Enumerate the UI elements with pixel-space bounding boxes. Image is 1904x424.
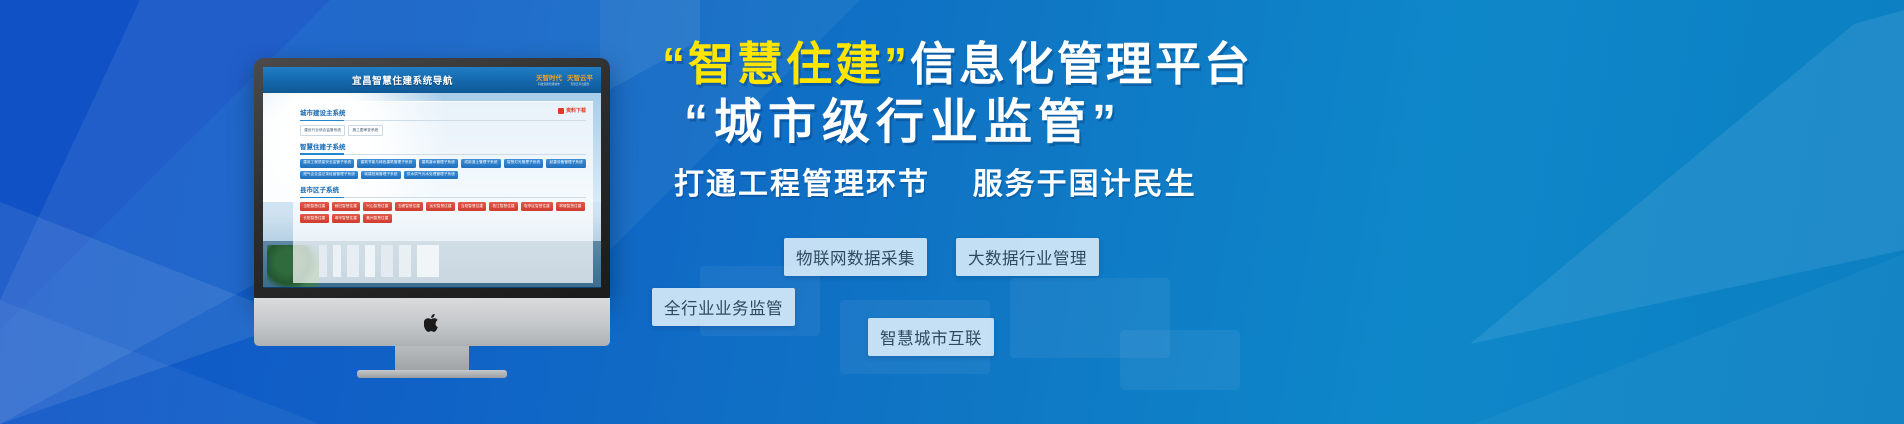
nav-chip[interactable]: 兴山智慧住建 xyxy=(363,202,392,211)
nav-chip[interactable]: 远安智慧住建 xyxy=(426,202,455,211)
banner-copy: “智慧住建”信息化管理平台 “城市级行业监管” 打通工程管理环节 服务于国计民生 xyxy=(648,40,1828,203)
chip-row-main-system: 建设行业综合监管系统 施工图审查系统 xyxy=(300,125,586,136)
site-body: 资料下载 城市建设主系统 建设行业综合监管系统 施工图审查系统 智慧住建子系统 … xyxy=(263,93,601,287)
nav-chip[interactable]: 粤甲智慧住建 xyxy=(332,214,361,223)
nav-chip[interactable]: 成用渣土管理子系统 xyxy=(461,159,501,168)
imac-bezel: 宜昌智慧住建系统导航 天智时代 科技创新智慧城市 天智云平 天智云平台服务 xyxy=(254,58,610,298)
section-title-smart-sub-system: 智慧住建子系统 xyxy=(300,141,586,155)
nav-chip[interactable]: 枝江智慧住建 xyxy=(489,202,518,211)
bg-shape-right-lower xyxy=(1474,254,1904,424)
headline-rest: 信息化管理平台 xyxy=(910,38,1253,90)
nav-chip[interactable]: 寜陵智慧住建 xyxy=(556,202,585,211)
chip-row-smart-sub-system: 建设工程质量安全监管子系统 建筑节能与绿色建筑管理子系统 建筑废水管理子系统 成… xyxy=(300,159,586,180)
nav-chip[interactable]: 建设工程质量安全监管子系统 xyxy=(300,159,354,168)
nav-chip[interactable]: 当阳智慧住建 xyxy=(300,202,329,211)
feature-pill-smart-city[interactable]: 智慧城市互联 xyxy=(868,318,994,356)
nav-chip[interactable]: 城建档案管理子系统 xyxy=(361,171,401,180)
nav-chip[interactable]: 智慧灯光管理子系统 xyxy=(504,159,544,168)
feature-pill-iot-data[interactable]: 物联网数据采集 xyxy=(784,238,927,276)
imac-mockup: 宜昌智慧住建系统导航 天智时代 科技创新智慧城市 天智云平 天智云平台服务 xyxy=(254,58,610,358)
tagline-part-2: 服务于国计民生 xyxy=(973,168,1197,201)
apple-logo-icon xyxy=(424,313,441,333)
headline-quote-close: ” xyxy=(884,38,910,90)
headline-tagline: 打通工程管理环节 服务于国计民生 xyxy=(674,159,1828,203)
feature-pill-group: 物联网数据采集 大数据行业管理 全行业业务监管 智慧城市互联 xyxy=(640,230,1160,360)
nav-chip[interactable]: 长阳智慧住建 xyxy=(300,214,329,223)
site-title: 宜昌智慧住建系统导航 xyxy=(269,73,536,87)
nav-chip[interactable]: 琁亭区智慧住建 xyxy=(521,202,553,211)
nav-chip[interactable]: 建设行业综合监管系统 xyxy=(300,125,345,136)
section-title-county-sub-system: 县市区子系统 xyxy=(300,184,586,198)
nav-chip[interactable]: 施工图审查系统 xyxy=(348,125,382,136)
headline-primary: “智慧住建”信息化管理平台 xyxy=(662,40,1828,89)
nav-chip[interactable]: 燃气企业监记录经营管理子系统 xyxy=(300,171,358,180)
imac-stand xyxy=(395,346,469,372)
feature-pill-bigdata[interactable]: 大数据行业管理 xyxy=(956,238,1099,276)
nav-chip[interactable]: 蕉州智慧住建 xyxy=(363,214,392,223)
nav-chip[interactable]: 当阳智慧住建 xyxy=(458,202,487,211)
headline-secondary: “城市级行业监管” xyxy=(684,97,1828,149)
imac-chin xyxy=(254,298,610,346)
nav-chip[interactable]: 供水供气污水处理管理子系统 xyxy=(404,171,458,180)
chip-row-county-sub-system: 当阳智慧住建 秭归智慧住建 兴山智慧住建 五峰智慧住建 远安智慧住建 当阳智慧住… xyxy=(300,202,586,223)
nav-chip[interactable]: 五峰智慧住建 xyxy=(395,202,424,211)
imac-display: 宜昌智慧住建系统导航 天智时代 科技创新智慧城市 天智云平 天智云平台服务 xyxy=(263,67,601,288)
section-title-main-system: 城市建设主系统 xyxy=(300,107,586,121)
site-header: 宜昌智慧住建系统导航 天智时代 科技创新智慧城市 天智云平 天智云平台服务 xyxy=(263,67,601,93)
nav-chip[interactable]: 秭归智慧住建 xyxy=(332,202,361,211)
headline-highlight: 智慧住建 xyxy=(688,38,884,90)
nav-chip[interactable]: 起重设备管理子系统 xyxy=(546,159,586,168)
hero-banner: 宜昌智慧住建系统导航 天智时代 科技创新智慧城市 天智云平 天智云平台服务 xyxy=(0,0,1904,424)
tagline-part-1: 打通工程管理环节 xyxy=(674,168,930,201)
navigation-card: 资料下载 城市建设主系统 建设行业综合监管系统 施工图审查系统 智慧住建子系统 … xyxy=(293,101,593,283)
headline-quote-open: “ xyxy=(662,38,688,90)
nav-chip[interactable]: 建筑节能与绿色建筑管理子系统 xyxy=(357,159,415,168)
imac-foot xyxy=(357,370,507,378)
brand-logo-2: 天智云平 天智云平台服务 xyxy=(567,75,593,86)
feature-pill-supervision[interactable]: 全行业业务监管 xyxy=(652,288,795,326)
nav-chip[interactable]: 建筑废水管理子系统 xyxy=(419,159,459,168)
brand-logo-1: 天智时代 科技创新智慧城市 xyxy=(536,75,562,86)
site-logos: 天智时代 科技创新智慧城市 天智云平 天智云平台服务 xyxy=(536,75,595,86)
